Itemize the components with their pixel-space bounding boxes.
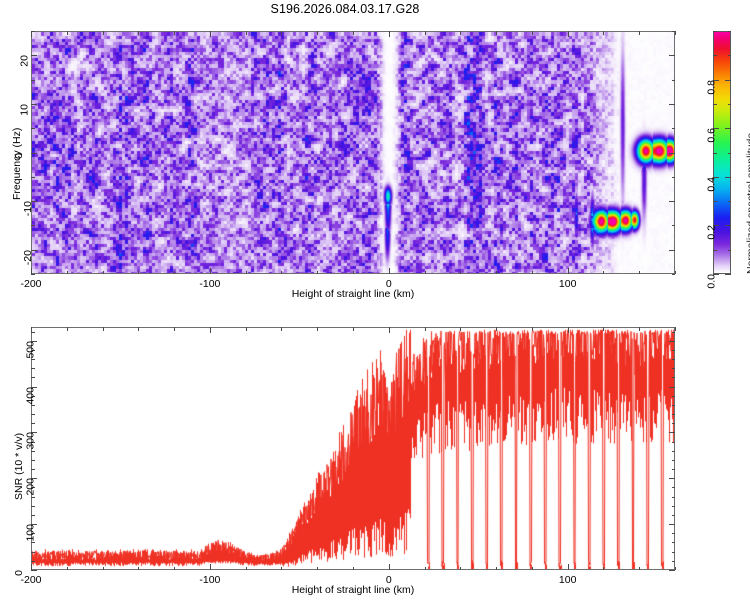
axis-tick: [31, 469, 35, 470]
y-tick-label: 300: [25, 432, 37, 450]
axis-tick: [672, 423, 676, 424]
axis-tick: [669, 250, 675, 251]
axis-tick: [31, 153, 37, 154]
axis-tick: [460, 327, 461, 331]
axis-tick: [210, 268, 211, 274]
axis-tick: [67, 567, 68, 571]
axis-tick: [353, 271, 354, 275]
axis-tick: [317, 327, 318, 331]
axis-tick: [672, 225, 676, 226]
bottom-yaxis-label: SNR (10 * v/v): [13, 433, 25, 500]
axis-tick: [353, 327, 354, 331]
y-tick-label: 200: [25, 478, 37, 496]
axis-tick: [31, 332, 35, 333]
axis-tick: [31, 506, 35, 507]
axis-tick: [31, 497, 35, 498]
axis-tick: [31, 570, 37, 571]
axis-tick: [672, 506, 676, 507]
axis-tick: [603, 31, 604, 35]
axis-tick: [353, 31, 354, 35]
axis-tick: [389, 564, 390, 570]
axis-tick: [669, 478, 675, 479]
y-tick-label: 100: [25, 524, 37, 542]
axis-tick: [672, 332, 676, 333]
y-tick-label: 400: [25, 387, 37, 405]
axis-tick: [103, 567, 104, 571]
top-yaxis-label: Frequency (Hz): [11, 128, 23, 200]
axis-tick: [425, 31, 426, 35]
axis-tick: [31, 451, 35, 452]
axis-tick: [603, 567, 604, 571]
axis-tick: [31, 31, 35, 32]
colorbar-tick: [713, 201, 717, 202]
colorbar-tick: [728, 104, 732, 105]
axis-tick: [425, 327, 426, 331]
axis-tick: [138, 271, 139, 275]
axis-tick: [31, 80, 35, 81]
axis-tick: [389, 31, 390, 37]
figure-root: S196.2026.084.03.17.G28 -200-1000100-20-…: [0, 0, 750, 600]
axis-tick: [672, 515, 676, 516]
axis-tick: [281, 31, 282, 35]
axis-tick: [669, 570, 675, 571]
axis-tick: [669, 153, 675, 154]
axis-tick: [67, 271, 68, 275]
axis-tick: [67, 327, 68, 331]
colorbar-tick-label: 0.6: [706, 128, 718, 143]
axis-tick: [210, 564, 211, 570]
axis-tick: [672, 80, 676, 81]
axis-tick: [31, 552, 35, 553]
axis-tick: [675, 327, 676, 331]
axis-tick: [496, 567, 497, 571]
axis-tick: [138, 567, 139, 571]
colorbar-tick: [728, 153, 732, 154]
colorbar-tick: [728, 250, 732, 251]
axis-tick: [31, 128, 35, 129]
axis-tick: [31, 414, 35, 415]
axis-tick: [669, 55, 675, 56]
axis-tick: [639, 31, 640, 35]
axis-tick: [639, 567, 640, 571]
axis-tick: [672, 497, 676, 498]
axis-tick: [672, 487, 676, 488]
axis-tick: [672, 377, 676, 378]
axis-tick: [31, 405, 35, 406]
axis-tick: [174, 327, 175, 331]
axis-tick: [603, 271, 604, 275]
axis-tick: [532, 31, 533, 35]
colorbar-label: Normalized spectral amplitude: [745, 133, 750, 274]
axis-tick: [174, 271, 175, 275]
axis-tick: [532, 271, 533, 275]
axis-tick: [568, 268, 569, 274]
axis-tick: [31, 460, 35, 461]
colorbar-tick: [725, 80, 731, 81]
axis-tick: [672, 542, 676, 543]
axis-tick: [639, 271, 640, 275]
axis-tick: [246, 327, 247, 331]
axis-tick: [672, 460, 676, 461]
axis-tick: [425, 271, 426, 275]
colorbar-tick-label: 0.8: [706, 80, 718, 95]
snr-canvas: [32, 328, 674, 569]
axis-tick: [174, 31, 175, 35]
axis-tick: [672, 414, 676, 415]
axis-tick: [353, 567, 354, 571]
axis-tick: [31, 423, 35, 424]
axis-tick: [460, 31, 461, 35]
axis-tick: [672, 469, 676, 470]
axis-tick: [568, 564, 569, 570]
y-tick-label: 500: [25, 341, 37, 359]
axis-tick: [669, 341, 675, 342]
axis-tick: [672, 552, 676, 553]
axis-tick: [675, 567, 676, 571]
axis-tick: [669, 432, 675, 433]
axis-tick: [67, 31, 68, 35]
axis-tick: [281, 567, 282, 571]
axis-tick: [675, 31, 676, 35]
axis-tick: [675, 271, 676, 275]
axis-tick: [672, 442, 676, 443]
bottom-xaxis-label: Height of straight line (km): [0, 584, 706, 596]
axis-tick: [425, 567, 426, 571]
axis-tick: [389, 268, 390, 274]
colorbar-tick-label: 0.4: [706, 177, 718, 192]
axis-tick: [31, 177, 35, 178]
axis-tick: [317, 567, 318, 571]
axis-tick: [389, 327, 390, 333]
axis-tick: [31, 368, 35, 369]
axis-tick: [669, 524, 675, 525]
colorbar-tick: [725, 177, 731, 178]
page-title: S196.2026.084.03.17.G28: [0, 2, 690, 16]
axis-tick: [281, 327, 282, 331]
axis-tick: [31, 225, 35, 226]
axis-tick: [281, 271, 282, 275]
colorbar-tick: [713, 55, 717, 56]
colorbar-tick: [713, 153, 717, 154]
axis-tick: [496, 327, 497, 331]
axis-tick: [246, 567, 247, 571]
colorbar-tick: [728, 55, 732, 56]
colorbar-tick: [725, 274, 731, 275]
axis-tick: [496, 271, 497, 275]
axis-tick: [568, 327, 569, 333]
axis-tick: [672, 368, 676, 369]
axis-tick: [672, 350, 676, 351]
y-tick-label: 10: [19, 104, 31, 116]
axis-tick: [568, 31, 569, 37]
axis-tick: [672, 31, 676, 32]
axis-tick: [246, 31, 247, 35]
axis-tick: [103, 327, 104, 331]
axis-tick: [103, 31, 104, 35]
axis-tick: [31, 542, 35, 543]
axis-tick: [460, 271, 461, 275]
y-tick-label: -10: [22, 201, 34, 216]
spectrogram-canvas: [32, 32, 674, 273]
colorbar-tick: [713, 104, 717, 105]
colorbar-tick-label: 0.2: [706, 225, 718, 240]
colorbar-tick-label: 0.0: [706, 274, 718, 289]
axis-tick: [496, 31, 497, 35]
axis-tick: [31, 104, 37, 105]
colorbar-tick: [713, 31, 717, 32]
axis-tick: [672, 128, 676, 129]
colorbar-tick: [728, 31, 732, 32]
axis-tick: [532, 567, 533, 571]
axis-tick: [639, 327, 640, 331]
axis-tick: [103, 271, 104, 275]
axis-tick: [317, 271, 318, 275]
axis-tick: [246, 271, 247, 275]
axis-tick: [138, 327, 139, 331]
axis-tick: [672, 396, 676, 397]
axis-tick: [672, 561, 676, 562]
axis-tick: [317, 31, 318, 35]
axis-tick: [669, 104, 675, 105]
axis-tick: [210, 327, 211, 333]
axis-tick: [669, 387, 675, 388]
axis-tick: [672, 274, 676, 275]
axis-tick: [31, 515, 35, 516]
axis-tick: [672, 177, 676, 178]
y-tick-label: 0: [13, 570, 25, 576]
colorbar-tick: [725, 225, 731, 226]
colorbar-tick: [725, 128, 731, 129]
axis-tick: [210, 31, 211, 37]
axis-tick: [174, 567, 175, 571]
axis-tick: [672, 451, 676, 452]
axis-tick: [603, 327, 604, 331]
axis-tick: [672, 405, 676, 406]
axis-tick: [672, 533, 676, 534]
axis-tick: [138, 31, 139, 35]
axis-tick: [31, 359, 35, 360]
axis-tick: [31, 274, 35, 275]
axis-tick: [31, 561, 35, 562]
snr-panel: [31, 327, 675, 570]
axis-tick: [669, 201, 675, 202]
colorbar-tick: [713, 250, 717, 251]
spectrogram-panel: [31, 31, 675, 274]
top-xaxis-label: Height of straight line (km): [0, 288, 706, 300]
axis-tick: [532, 327, 533, 331]
axis-tick: [672, 359, 676, 360]
axis-tick: [31, 55, 37, 56]
axis-tick: [460, 567, 461, 571]
axis-tick: [31, 377, 35, 378]
colorbar-tick: [728, 201, 732, 202]
y-tick-label: 20: [19, 55, 31, 67]
y-tick-label: -20: [22, 250, 34, 265]
